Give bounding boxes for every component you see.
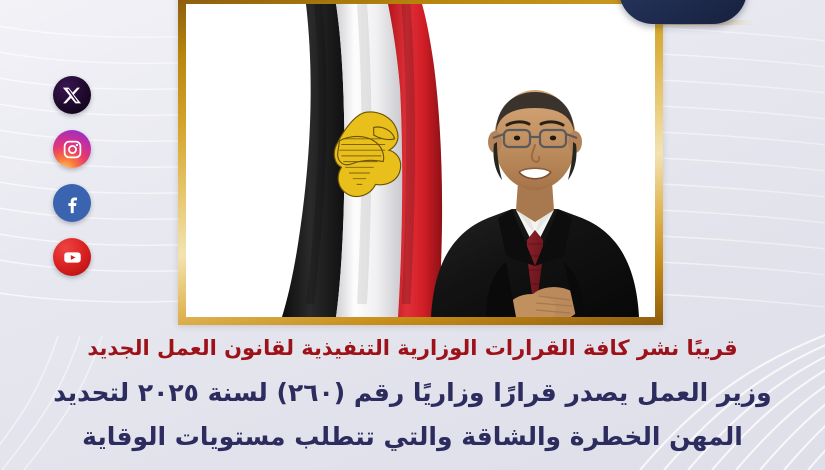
headline-line-2: وزير العمل يصدر قرارًا وزاريًا رقم (٢٦٠)… <box>22 372 803 414</box>
facebook-icon <box>62 193 83 214</box>
corner-logo-badge <box>619 0 747 24</box>
headline-line-3: المهن الخطرة والشاقة والتي تتطلب مستويات… <box>22 416 803 458</box>
poster-canvas: قريبًا نشر كافة القرارات الوزارية التنفي… <box>0 0 825 470</box>
portrait-photo <box>186 4 655 317</box>
social-link-x-twitter[interactable] <box>53 76 91 114</box>
social-links-rail[interactable] <box>52 76 92 276</box>
social-link-youtube[interactable] <box>53 238 91 276</box>
headline-block: قريبًا نشر كافة القرارات الوزارية التنفي… <box>0 334 825 458</box>
x-icon <box>62 85 83 106</box>
headline-line-1: قريبًا نشر كافة القرارات الوزارية التنفي… <box>22 334 803 362</box>
social-link-facebook[interactable] <box>53 184 91 222</box>
youtube-icon <box>62 247 83 268</box>
instagram-icon <box>62 139 83 160</box>
portrait-frame <box>178 0 663 325</box>
social-link-instagram[interactable] <box>53 130 91 168</box>
